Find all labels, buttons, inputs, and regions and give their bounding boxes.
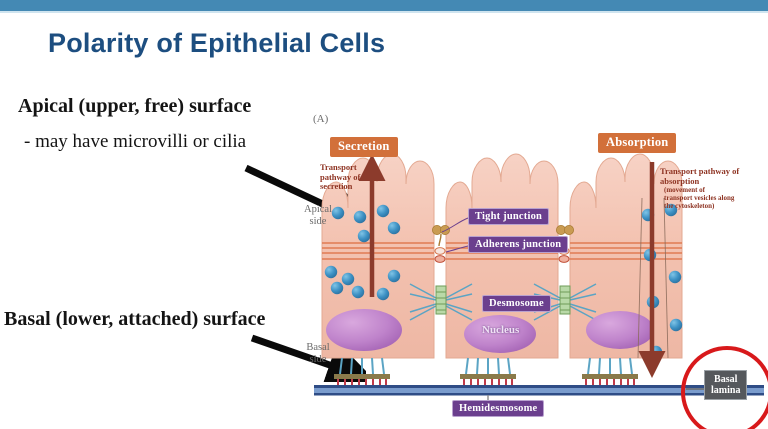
slide-canvas: Polarity of Epithelial Cells Apical (upp…: [0, 0, 768, 429]
secretion-pathway-text: Transport pathway of secretion: [320, 163, 382, 192]
secretion-label: Secretion: [330, 137, 398, 157]
adherens-junction-label: Adherens junction: [468, 236, 568, 253]
basal-side-line1: Basal: [306, 342, 329, 353]
hemidesmosome-label: Hemidesmosome: [452, 400, 544, 417]
epithelial-cell-diagram: Secretion Absorption Transport pathway o…: [286, 112, 768, 429]
basal-side-line2: side: [310, 354, 327, 365]
basal-lamina-label: Basal lamina: [704, 370, 747, 400]
basal-lamina-line2: lamina: [711, 385, 740, 396]
apical-surface-subtext: - may have microvilli or cilia: [24, 131, 246, 153]
absorption-pathway-line2: absorption: [660, 176, 699, 186]
absorption-label: Absorption: [598, 133, 676, 153]
absorption-pathway-text: Transport pathway of absorption (movemen…: [660, 167, 764, 210]
absorption-pathway-sub3: the cytoskeleton): [660, 202, 764, 210]
panel-marker-a: (A): [313, 113, 328, 125]
top-accent-bar: [0, 0, 768, 11]
apical-side-line2: side: [310, 216, 327, 227]
secretion-pathway-line3: secretion: [320, 181, 352, 191]
secretion-pathway-line1: Transport: [320, 162, 357, 172]
nucleus-label: Nucleus: [482, 324, 519, 336]
apical-side-line1: Apical: [304, 204, 332, 215]
nucleus-3: [586, 311, 654, 349]
absorption-pathway-sub1: (movement of: [660, 186, 764, 194]
basal-side-label: Basal side: [296, 342, 340, 365]
basal-lamina-line1: Basal: [714, 374, 737, 385]
basal-surface-heading: Basal (lower, attached) surface: [4, 308, 265, 331]
apical-side-label: Apical side: [296, 204, 340, 227]
tight-junction-label: Tight junction: [468, 208, 549, 225]
apical-surface-heading: Apical (upper, free) surface: [18, 95, 251, 118]
absorption-pathway-sub2: transport vesicles along: [660, 194, 764, 202]
desmosome-label: Desmosome: [482, 295, 551, 312]
page-title: Polarity of Epithelial Cells: [48, 28, 385, 59]
absorption-pathway-line1: Transport pathway of: [660, 166, 739, 176]
secretion-pathway-line2: pathway of: [320, 172, 360, 182]
top-accent-underline: [0, 11, 768, 13]
